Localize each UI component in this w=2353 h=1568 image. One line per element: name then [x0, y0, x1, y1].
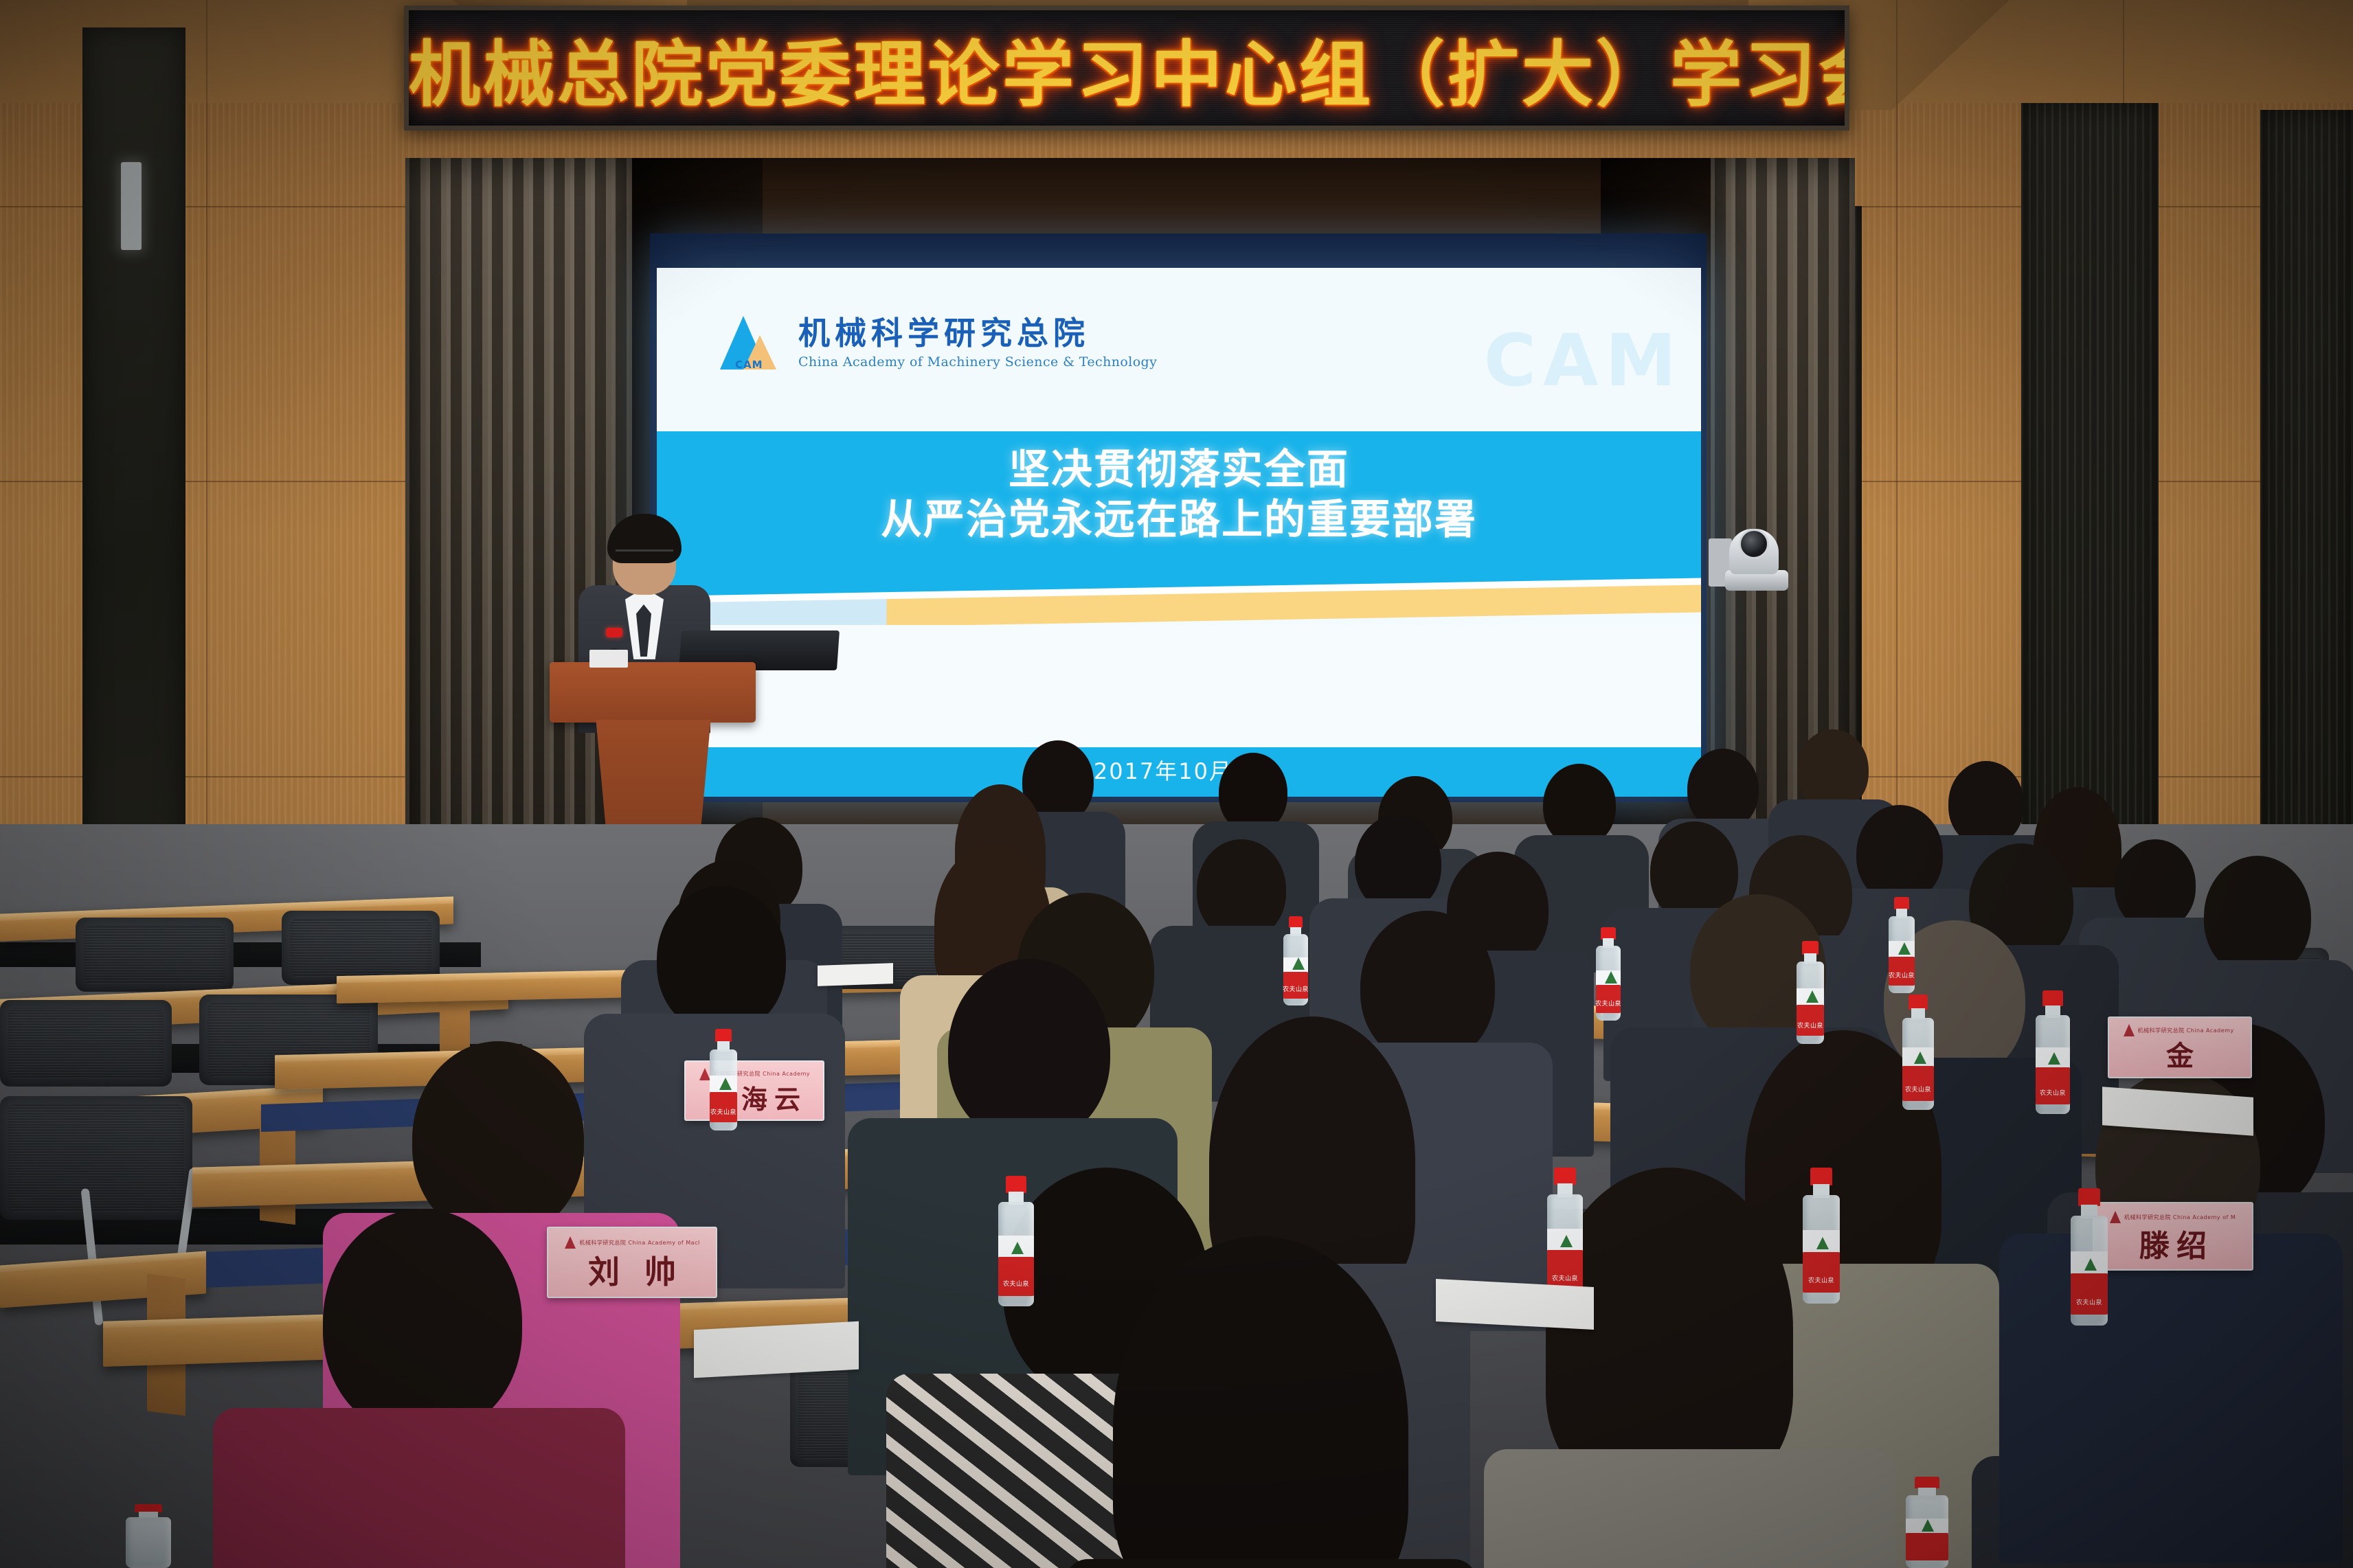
slide-logo: CAM 机械科学研究总院 China Academy of Machinery …	[720, 312, 1157, 370]
nameplate-org-text: 机械科学研究总院 China Academy of Machinery Scie…	[579, 1239, 699, 1247]
handout-paper-4	[818, 963, 893, 986]
handout-paper-1	[694, 1321, 859, 1378]
water-bottle-12	[1903, 1477, 1951, 1568]
bottle-brand-label: 农夫山泉	[1887, 970, 1917, 979]
conference-room-photo: 机械总院党委理论学习中心组（扩大）学习会 CAM 机械科学研究总院 China …	[0, 0, 2353, 1568]
water-bottle-7: 农夫山泉	[2034, 990, 2072, 1114]
conference-camera-icon	[1709, 515, 1791, 591]
handout-paper-2	[1436, 1279, 1594, 1330]
acoustic-panel-far-right	[2260, 110, 2353, 927]
cam-mark-label: CAM	[735, 359, 763, 371]
nameplate-name: 申海云	[686, 1078, 823, 1116]
podium-top	[550, 662, 756, 723]
nameplate-name: 金	[2109, 1034, 2251, 1073]
slide-title-line2: 从严治党永远在路上的重要部署	[657, 495, 1701, 545]
speaker-glasses-icon	[616, 549, 673, 563]
water-bottle-13	[122, 1504, 174, 1568]
nameplate-jin: 机械科学研究总院 China Academy of Machinery Scie…	[2108, 1016, 2252, 1078]
nameplate-liu: 机械科学研究总院 China Academy of Machinery Scie…	[547, 1227, 717, 1298]
acoustic-panel-left	[82, 27, 185, 913]
nameplate-teng: 机械科学研究总院 China Academy of Machinery Scie…	[2093, 1202, 2253, 1271]
water-bottle-11: 农夫山泉	[996, 1176, 1036, 1306]
water-bottle-1: 农夫山泉	[1282, 916, 1309, 1005]
water-bottle-8: 农夫山泉	[1800, 1168, 1843, 1304]
chair-left-3	[0, 1000, 172, 1087]
water-bottle-3: 农夫山泉	[1887, 897, 1917, 993]
logo-chinese-name: 机械科学研究总院	[798, 317, 1157, 349]
podium-notes	[589, 650, 628, 668]
bottle-brand-label: 农夫山泉	[1800, 1275, 1843, 1284]
bottle-brand-label: 农夫山泉	[708, 1107, 739, 1116]
led-banner-text: 机械总院党委理论学习中心组（扩大）学习会	[409, 16, 1845, 120]
bottle-brand-label: 农夫山泉	[1594, 999, 1623, 1008]
wall-vseam-1	[206, 0, 207, 845]
bottle-brand-label: 农夫山泉	[2068, 1297, 2110, 1306]
chair-left-1	[76, 918, 234, 992]
wall-light-slit	[121, 162, 142, 250]
water-bottle-9: 农夫山泉	[1544, 1168, 1586, 1301]
party-badge-icon	[606, 628, 622, 637]
nameplate-org-text: 机械科学研究总院 China Academy of Machinery Scie…	[2124, 1214, 2236, 1221]
water-bottle-10: 农夫山泉	[2068, 1188, 2110, 1326]
bottle-brand-label: 农夫山泉	[1544, 1273, 1586, 1282]
water-bottle-4: 农夫山泉	[708, 1029, 739, 1130]
slide-date: 2017年10月 日	[657, 754, 1701, 786]
wall-vseam-2	[1896, 0, 1898, 845]
nameplate-shen: 机械科学研究总院 China Academy of Machinery Scie…	[684, 1060, 824, 1121]
projection-screen: CAM 机械科学研究总院 China Academy of Machinery …	[657, 268, 1701, 797]
bottle-brand-label: 农夫山泉	[2034, 1088, 2072, 1097]
logo-english-name: China Academy of Machinery Science & Tec…	[798, 354, 1157, 370]
bottle-brand-label: 农夫山泉	[1282, 984, 1309, 993]
bottle-brand-label: 农夫山泉	[1794, 1021, 1826, 1030]
nameplate-name: 刘 帅	[548, 1247, 716, 1293]
bottle-brand-label: 农夫山泉	[996, 1279, 1036, 1288]
led-banner: 机械总院党委理论学习中心组（扩大）学习会	[404, 5, 1849, 130]
chair-left-5	[0, 1096, 192, 1220]
cam-watermark: CAM	[1484, 319, 1683, 402]
bottle-brand-label: 农夫山泉	[1900, 1084, 1936, 1093]
nameplate-name: 滕绍	[2094, 1221, 2252, 1265]
water-bottle-6: 农夫山泉	[1900, 995, 1936, 1110]
cam-triangle-icon: CAM	[720, 312, 786, 370]
slide-title: 坚决贯彻落实全面 从严治党永远在路上的重要部署	[657, 445, 1701, 545]
water-bottle-2: 农夫山泉	[1594, 927, 1623, 1021]
water-bottle-5: 农夫山泉	[1794, 941, 1826, 1044]
camera-lens-icon	[1739, 529, 1769, 559]
slide-title-line1: 坚决贯彻落实全面	[657, 445, 1701, 495]
